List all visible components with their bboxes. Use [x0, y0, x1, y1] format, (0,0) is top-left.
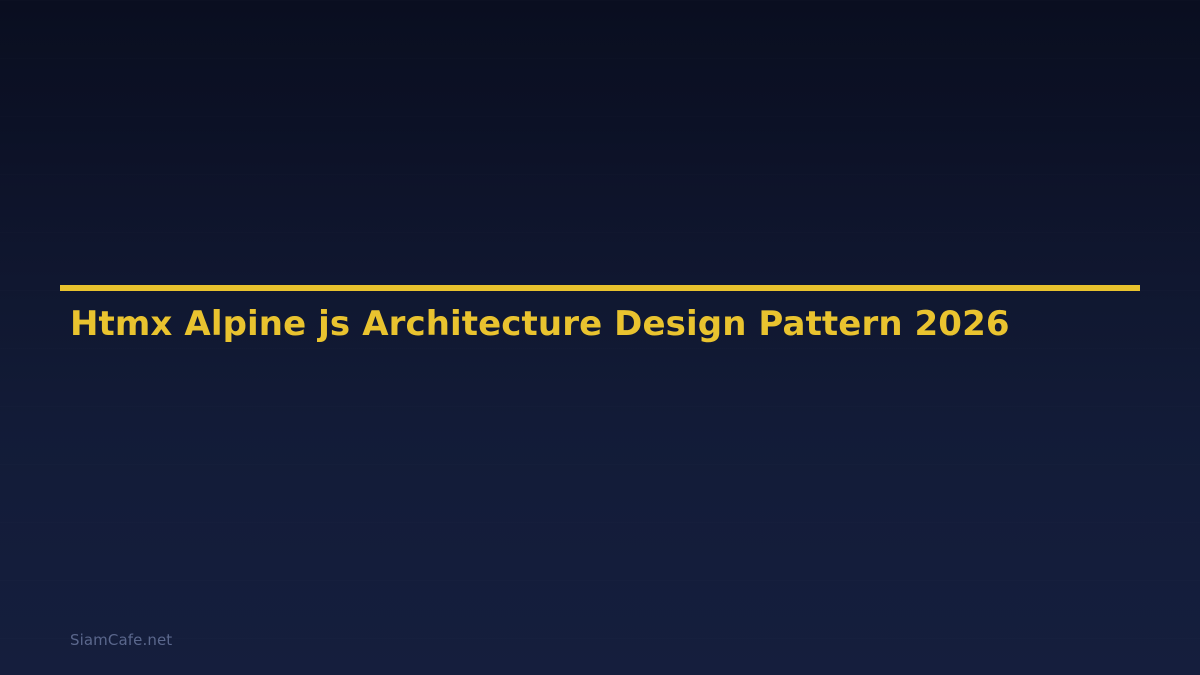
page-title: Htmx Alpine js Architecture Design Patte…	[70, 303, 1150, 345]
footer-brand-label: SiamCafe.net	[70, 630, 172, 650]
accent-rule	[60, 285, 1140, 291]
title-slide: Htmx Alpine js Architecture Design Patte…	[0, 0, 1200, 675]
